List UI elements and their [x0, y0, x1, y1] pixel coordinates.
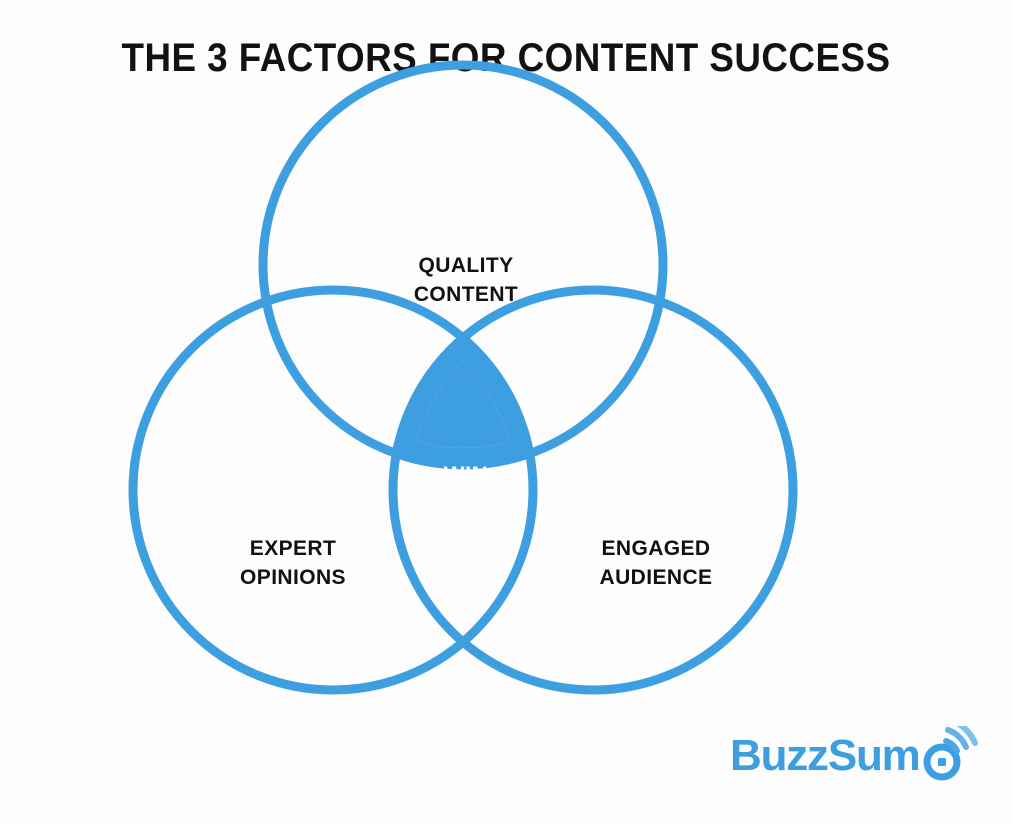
label-engaged-audience: ENGAGED AUDIENCE — [556, 534, 756, 592]
poster-canvas: THE 3 FACTORS FOR CONTENT SUCCESS — [0, 0, 1012, 824]
label-expert-opinions: EXPERT OPINIONS — [193, 534, 393, 592]
intersection-fill-inner — [72, 69, 927, 765]
venn-diagram — [0, 0, 1012, 824]
wifi-signal-icon — [916, 726, 992, 786]
label-quality-content: QUALITY CONTENT — [366, 251, 566, 309]
buzzsumo-logo[interactable]: BuzzSum — [730, 726, 992, 792]
buzzsumo-wordmark: BuzzSum — [730, 732, 920, 780]
label-win: WIN — [406, 462, 526, 488]
